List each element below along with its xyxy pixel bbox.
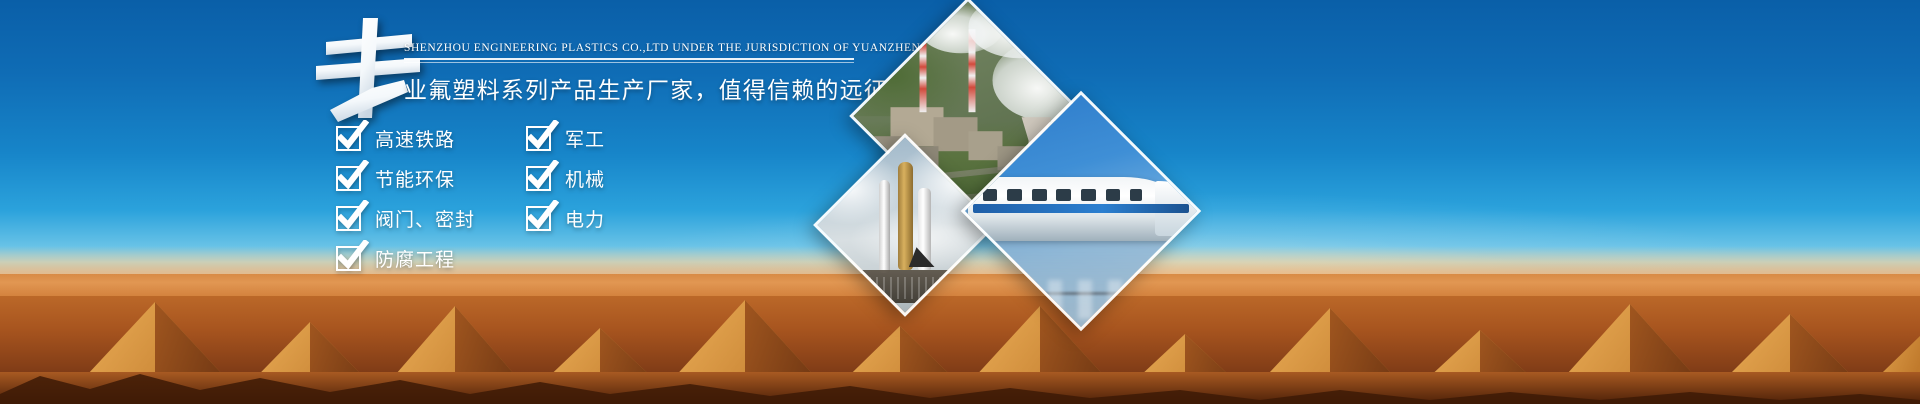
- divider-thin: [404, 62, 854, 63]
- feature-label: 节能环保: [375, 165, 455, 192]
- feature-checklist: 高速铁路 军工 节能环保 机械 阀门、密封: [336, 118, 716, 278]
- feature-item: 机械: [526, 165, 716, 192]
- check-icon: [526, 126, 551, 151]
- pyramid-silhouettes: [0, 244, 1920, 404]
- feature-label: 防腐工程: [375, 245, 455, 272]
- chinese-tagline: 业氟塑料系列产品生产厂家，值得信赖的远征品牌: [404, 71, 884, 105]
- hero-banner: SHENZHOU ENGINEERING PLASTICS CO.,LTD UN…: [0, 0, 1920, 404]
- feature-item: 高速铁路: [336, 125, 526, 152]
- feature-label: 阀门、密封: [375, 205, 475, 232]
- feature-item: 防腐工程: [336, 245, 526, 272]
- feature-label: 电力: [565, 205, 605, 232]
- feature-label: 机械: [565, 165, 605, 192]
- divider-thick: [404, 58, 854, 60]
- check-icon: [336, 206, 361, 231]
- feature-item: 电力: [526, 205, 716, 232]
- feature-item: 军工: [526, 125, 716, 152]
- divider-rules: [404, 58, 854, 63]
- brand-text-block: SHENZHOU ENGINEERING PLASTICS CO.,LTD UN…: [404, 42, 884, 105]
- feature-label: 高速铁路: [375, 125, 455, 152]
- check-icon: [336, 246, 361, 271]
- check-icon: [526, 166, 551, 191]
- check-icon: [336, 166, 361, 191]
- feature-item: 阀门、密封: [336, 205, 526, 232]
- feature-label: 军工: [565, 125, 605, 152]
- check-icon: [336, 126, 361, 151]
- english-title: SHENZHOU ENGINEERING PLASTICS CO.,LTD UN…: [404, 42, 884, 54]
- check-icon: [526, 206, 551, 231]
- feature-item: 节能环保: [336, 165, 526, 192]
